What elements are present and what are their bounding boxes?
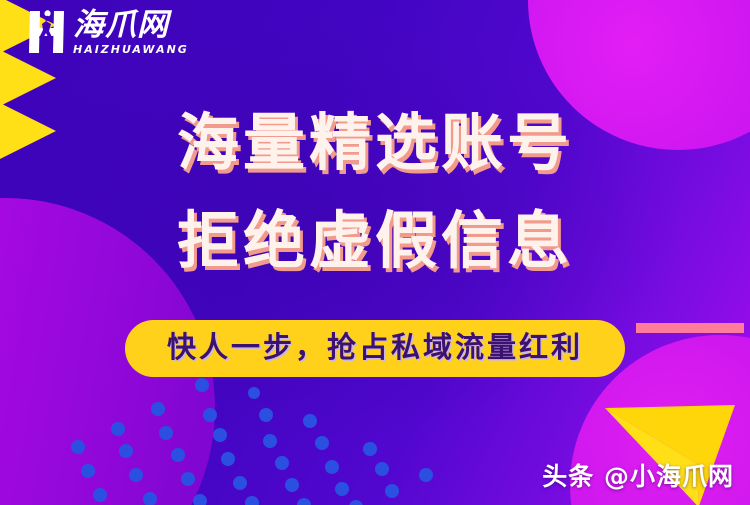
decor-dot-field: [70, 371, 500, 505]
decor-pink-bar: [636, 323, 744, 333]
logo-name-en: HAIZHUAWANG: [73, 43, 189, 56]
headline: 海量精选账号 拒绝虚假信息: [0, 112, 750, 272]
cta-pill[interactable]: 快人一步，抢占私域流量红利: [125, 320, 625, 377]
watermark: 头条 @小海爪网: [542, 457, 734, 493]
logo-wordmark: 海爪网 HAIZHUAWANG: [73, 9, 189, 56]
headline-line-1: 海量精选账号: [0, 112, 750, 174]
logo-name-cn: 海爪网: [73, 9, 189, 42]
decor-zigzag-triangle-2: [0, 50, 56, 106]
h-runner-logo-icon: [26, 9, 66, 55]
promo-banner: 海爪网 HAIZHUAWANG 海量精选账号 拒绝虚假信息 快人一步，抢占私域流…: [0, 0, 750, 505]
site-logo: 海爪网 HAIZHUAWANG: [26, 9, 189, 56]
headline-line-2: 拒绝虚假信息: [0, 210, 750, 272]
cta-pill-label: 快人一步，抢占私域流量红利: [167, 330, 583, 364]
